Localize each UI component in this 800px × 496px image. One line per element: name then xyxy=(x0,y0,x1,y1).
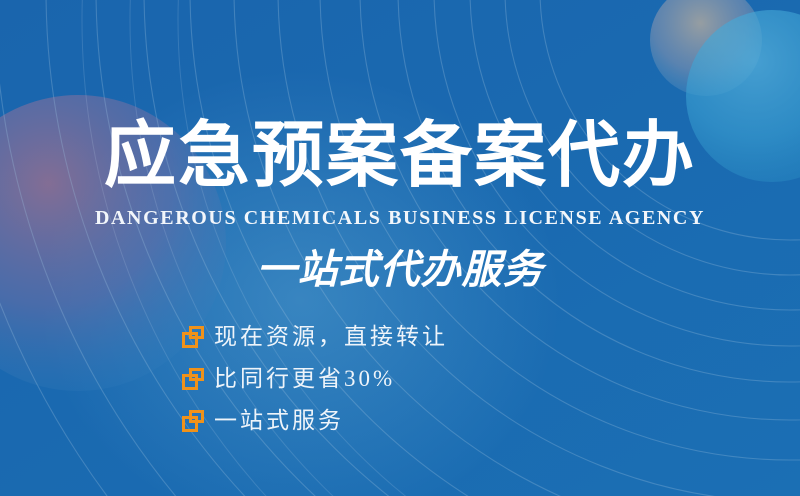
double-square-icon xyxy=(182,368,204,390)
double-square-icon xyxy=(182,410,204,432)
feature-list: 现在资源，直接转让 比同行更省30% 一站式服务 xyxy=(182,318,662,444)
service-tagline: 一站式代办服务 xyxy=(0,246,800,294)
page-title: 应急预案备案代办 xyxy=(0,114,800,198)
list-item-label: 一站式服务 xyxy=(214,406,344,436)
list-item: 一站式服务 xyxy=(182,402,662,440)
banner-content: 应急预案备案代办 DANGEROUS CHEMICALS BUSINESS LI… xyxy=(0,0,800,496)
promotional-banner: 应急预案备案代办 DANGEROUS CHEMICALS BUSINESS LI… xyxy=(0,0,800,496)
english-subtitle: DANGEROUS CHEMICALS BUSINESS LICENSE AGE… xyxy=(0,205,800,231)
list-item-label: 比同行更省30% xyxy=(214,364,395,394)
list-item: 比同行更省30% xyxy=(182,360,662,398)
list-item-label: 现在资源，直接转让 xyxy=(214,322,448,352)
double-square-icon xyxy=(182,326,204,348)
list-item: 现在资源，直接转让 xyxy=(182,318,662,356)
